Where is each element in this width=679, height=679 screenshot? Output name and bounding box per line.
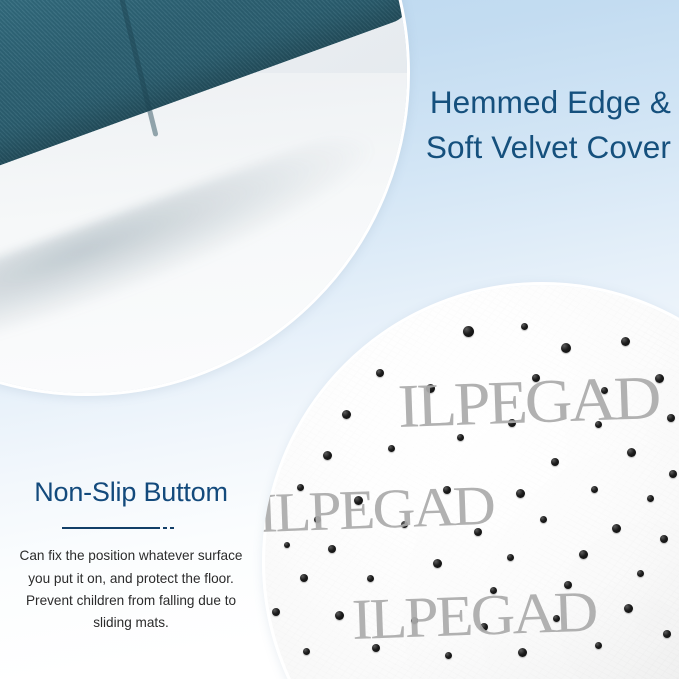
mat-brand-watermark: ILPEGAD (351, 578, 597, 653)
divider-dash-2 (170, 527, 174, 529)
mat-brand-watermark: ILPEGAD (262, 474, 494, 546)
feature-title: Non-Slip Buttom (0, 476, 262, 508)
headline-line-2: Soft Velvet Cover (251, 125, 671, 170)
headline: Hemmed Edge & Soft Velvet Cover (251, 80, 671, 169)
promo-image-canvas: ILPEGADILPEGADILPEGAD Hemmed Edge & Soft… (0, 0, 679, 679)
headline-line-1: Hemmed Edge & (251, 80, 671, 125)
divider-line (62, 527, 160, 529)
feature-block: Non-Slip Buttom Can fix the position wha… (0, 476, 262, 634)
feature-divider (0, 517, 262, 539)
mat-dot (262, 629, 263, 635)
divider-dash-1 (163, 527, 167, 529)
feature-description: Can fix the position whatever surface yo… (0, 545, 262, 634)
mat-brand-watermark: ILPEGAD (397, 363, 660, 443)
